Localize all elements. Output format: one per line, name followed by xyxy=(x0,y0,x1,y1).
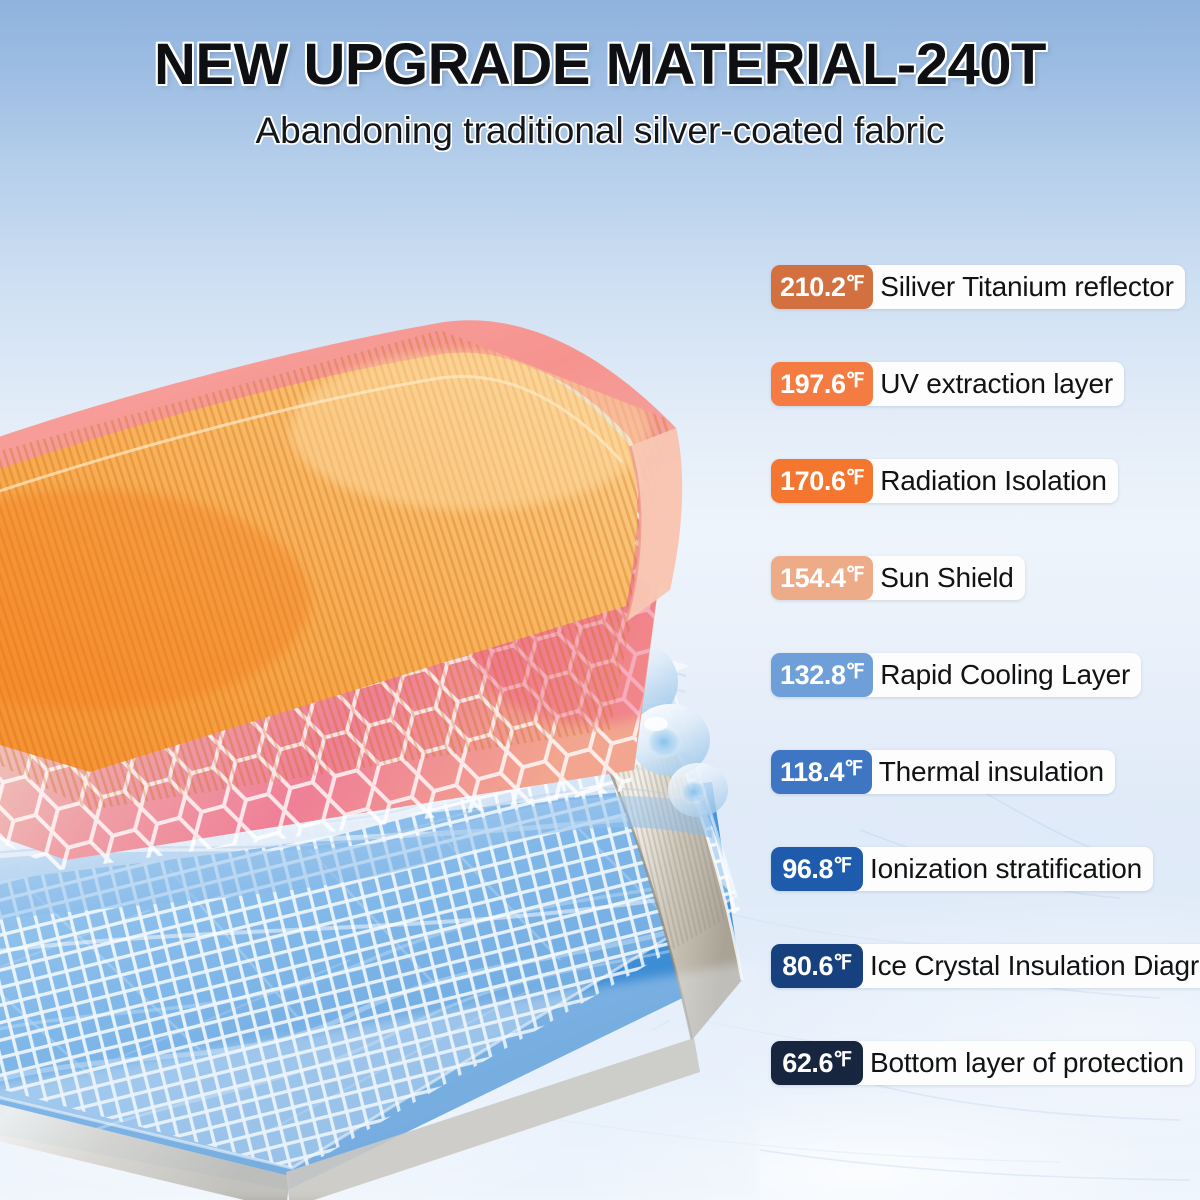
temperature-value: 132.8 xyxy=(780,662,846,689)
layer-name: Bottom layer of protection xyxy=(863,1041,1195,1085)
degree-fahrenheit-icon: ℉ xyxy=(833,1050,852,1070)
layer-row: 154.4℉Sun Shield xyxy=(771,556,1025,600)
layer-name: Radiation Isolation xyxy=(873,459,1118,503)
temperature-badge: 62.6℉ xyxy=(771,1041,863,1085)
degree-fahrenheit-icon: ℉ xyxy=(833,953,852,973)
layer-row: 132.8℉Rapid Cooling Layer xyxy=(771,653,1141,697)
poster-canvas: NEW UPGRADE MATERIAL-240T Abandoning tra… xyxy=(0,0,1200,1200)
layer-row: 197.6℉UV extraction layer xyxy=(771,362,1124,406)
layer-row: 80.6℉Ice Crystal Insulation Diagram xyxy=(771,944,1200,988)
header-block: NEW UPGRADE MATERIAL-240T Abandoning tra… xyxy=(0,34,1200,151)
temperature-badge: 132.8℉ xyxy=(771,653,873,697)
layer-label-list: 210.2℉Siliver Titanium reflector197.6℉UV… xyxy=(771,265,1200,1085)
temperature-value: 80.6 xyxy=(782,953,833,980)
degree-fahrenheit-icon: ℉ xyxy=(846,662,865,682)
temperature-value: 154.4 xyxy=(780,565,846,592)
temperature-value: 197.6 xyxy=(780,371,846,398)
temperature-badge: 96.8℉ xyxy=(771,847,863,891)
degree-fahrenheit-icon: ℉ xyxy=(833,856,852,876)
temperature-value: 170.6 xyxy=(780,468,846,495)
degree-fahrenheit-icon: ℉ xyxy=(844,759,863,779)
product-illustration xyxy=(0,170,760,1200)
temperature-value: 118.4 xyxy=(780,759,844,786)
degree-fahrenheit-icon: ℉ xyxy=(846,371,865,391)
page-title: NEW UPGRADE MATERIAL-240T xyxy=(0,34,1200,97)
degree-fahrenheit-icon: ℉ xyxy=(846,565,865,585)
temperature-badge: 118.4℉ xyxy=(771,750,872,794)
layer-name: Ice Crystal Insulation Diagram xyxy=(863,944,1200,988)
temperature-value: 62.6 xyxy=(782,1050,833,1077)
layer-name: Siliver Titanium reflector xyxy=(873,265,1185,309)
degree-fahrenheit-icon: ℉ xyxy=(846,468,865,488)
layer-row: 62.6℉Bottom layer of protection xyxy=(771,1041,1195,1085)
temperature-badge: 210.2℉ xyxy=(771,265,873,309)
layer-row: 96.8℉Ionization stratification xyxy=(771,847,1153,891)
layer-name: UV extraction layer xyxy=(873,362,1124,406)
degree-fahrenheit-icon: ℉ xyxy=(846,274,865,294)
temperature-value: 210.2 xyxy=(780,274,846,301)
layer-row: 210.2℉Siliver Titanium reflector xyxy=(771,265,1185,309)
layer-name: Sun Shield xyxy=(873,556,1024,600)
layer-name: Rapid Cooling Layer xyxy=(873,653,1141,697)
layer-row: 170.6℉Radiation Isolation xyxy=(771,459,1118,503)
layer-name: Ionization stratification xyxy=(863,847,1153,891)
temperature-badge: 154.4℉ xyxy=(771,556,873,600)
temperature-value: 96.8 xyxy=(782,856,833,883)
temperature-badge: 197.6℉ xyxy=(771,362,873,406)
layer-name: Thermal insulation xyxy=(872,750,1115,794)
layer-row: 118.4℉Thermal insulation xyxy=(771,750,1115,794)
page-subtitle: Abandoning traditional silver-coated fab… xyxy=(0,111,1200,152)
temperature-badge: 80.6℉ xyxy=(771,944,863,988)
temperature-badge: 170.6℉ xyxy=(771,459,873,503)
